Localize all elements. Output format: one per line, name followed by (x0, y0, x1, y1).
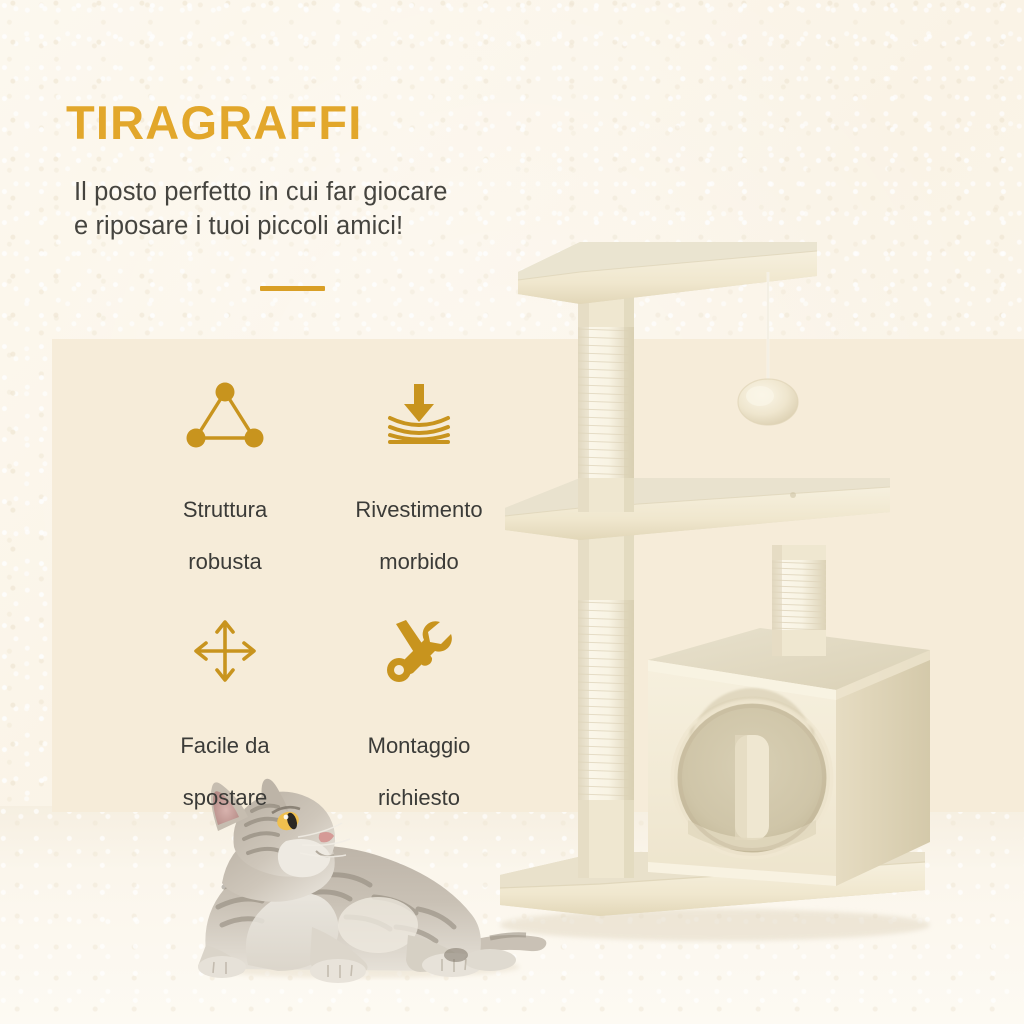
feature-label-line-1: Facile da (130, 733, 320, 759)
product-banner: TIRAGRAFFI Il posto perfetto in cui far … (0, 0, 1024, 1024)
soft-cushion-arrow-icon (324, 375, 514, 455)
wrench-screwdriver-icon (324, 611, 514, 691)
feature-item-assembly-required: Montaggio richiesto (324, 611, 514, 837)
subtitle-line-2: e riposare i tuoi piccoli amici! (74, 210, 544, 244)
feature-item-sturdy-structure: Struttura robusta (130, 375, 320, 601)
feature-label: Facile da spostare (130, 707, 320, 837)
feature-label-line-1: Montaggio (324, 733, 514, 759)
feature-label-line-1: Rivestimento (324, 497, 514, 523)
feature-label-line-1: Struttura (130, 497, 320, 523)
page-subtitle: Il posto perfetto in cui far giocare e r… (74, 176, 544, 244)
feature-item-soft-covering: Rivestimento morbido (324, 375, 514, 601)
page-title: TIRAGRAFFI (66, 99, 363, 146)
title-divider (260, 286, 325, 291)
feature-label-line-2: richiesto (324, 785, 514, 811)
feature-label: Rivestimento morbido (324, 471, 514, 601)
feature-label-line-2: robusta (130, 549, 320, 575)
triangle-structure-icon (130, 375, 320, 455)
subtitle-line-1: Il posto perfetto in cui far giocare (74, 176, 544, 210)
feature-label-line-2: spostare (130, 785, 320, 811)
feature-label: Montaggio richiesto (324, 707, 514, 837)
feature-label-line-2: morbido (324, 549, 514, 575)
feature-list: Struttura robusta (52, 339, 492, 812)
feature-label: Struttura robusta (130, 471, 320, 601)
four-way-move-icon (130, 611, 320, 691)
feature-item-easy-to-move: Facile da spostare (130, 611, 320, 837)
